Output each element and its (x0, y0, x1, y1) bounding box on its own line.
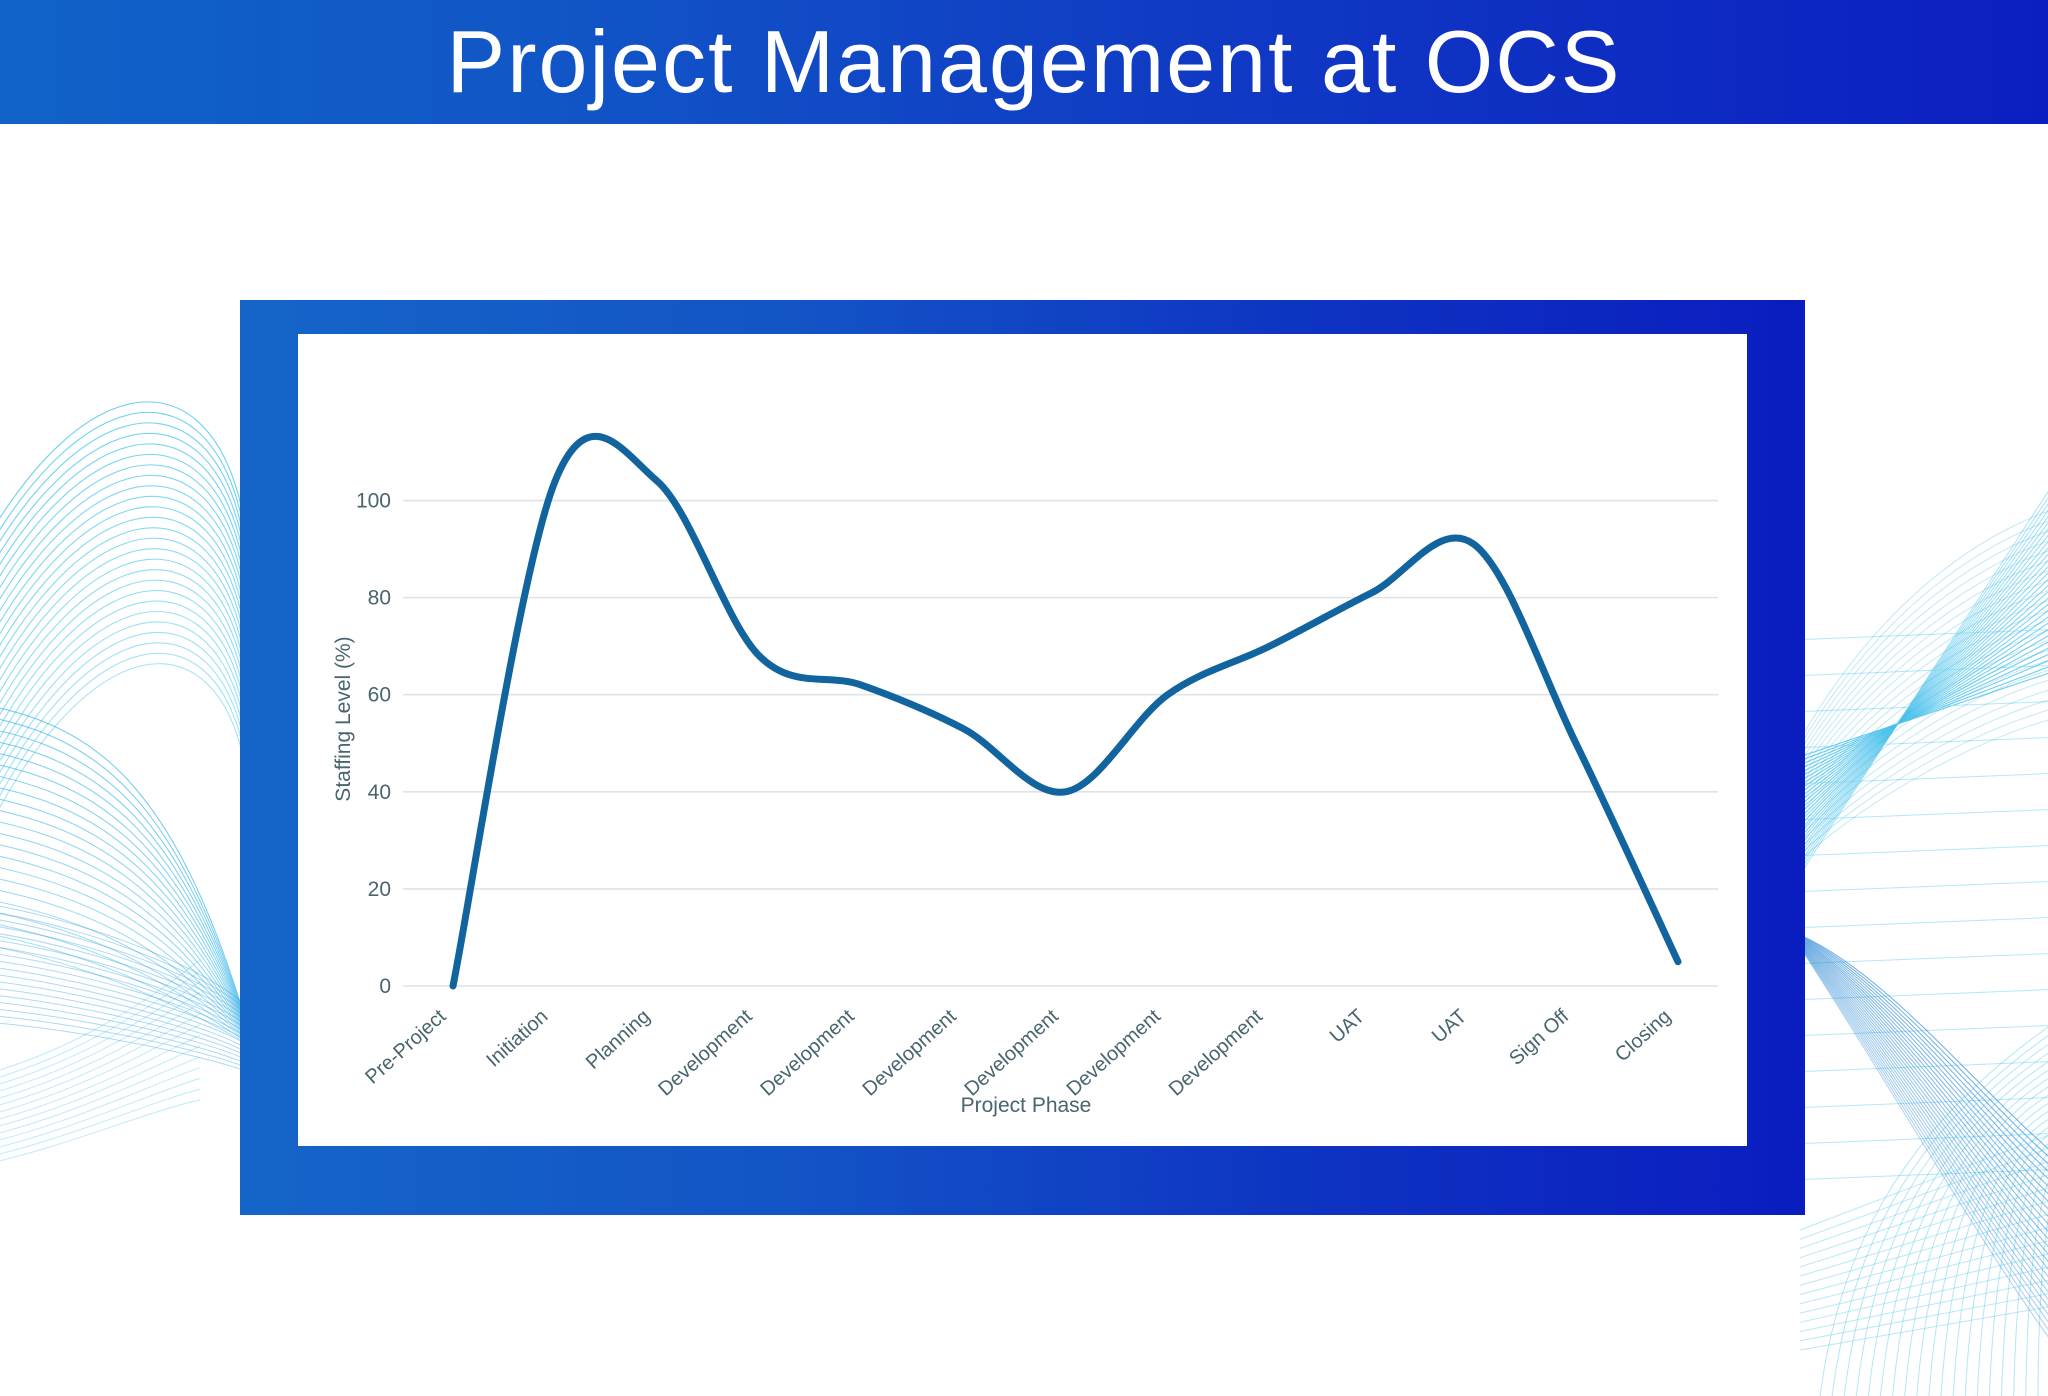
decor-line (0, 423, 250, 639)
decor-line (1800, 1134, 2048, 1239)
decor-line (1790, 462, 2048, 872)
decor-line (0, 412, 250, 629)
decor-line (1790, 493, 2048, 854)
decor-line (1800, 1300, 2048, 1350)
decor-line (1790, 454, 2048, 877)
decor-line (1800, 1272, 2048, 1331)
decor-line (1790, 1096, 2048, 1108)
y-tick-label: 20 (368, 878, 391, 901)
decor-line (1800, 710, 2048, 860)
slide-title-bar: Project Management at OCS (0, 0, 2048, 124)
decor-line (1790, 628, 2048, 778)
decor-line (0, 914, 259, 1045)
decor-line (1800, 680, 2048, 843)
decor-line (1790, 604, 2048, 791)
decor-line (0, 906, 250, 1044)
decor-line (1800, 600, 2048, 797)
decor-line (1800, 936, 2048, 1205)
decor-line (1800, 946, 2048, 1373)
decor-line (1790, 517, 2048, 840)
decor-line (1893, 1057, 2048, 1396)
decor-line (0, 1078, 200, 1156)
x-tick-label: Initiation (482, 1005, 552, 1071)
decor-line (0, 1014, 200, 1115)
decor-line (1905, 1066, 2048, 1396)
decor-line (1790, 620, 2048, 782)
decor-line (1790, 430, 2048, 890)
decor-line (1790, 772, 2048, 784)
decor-line (0, 929, 250, 1045)
decor-line (1800, 630, 2048, 814)
decor-line (1790, 916, 2048, 928)
x-tick-label: Development (1165, 1005, 1268, 1100)
x-tick-label: Closing (1611, 1005, 1675, 1066)
decor-line (1800, 670, 2048, 837)
decor-line (1800, 943, 2048, 1323)
decor-line (0, 517, 250, 722)
decor-line (1800, 1162, 2048, 1258)
decor-line (0, 664, 250, 890)
decor-line (1800, 944, 2048, 1332)
x-tick-label: Development (961, 1005, 1064, 1100)
decor-line (1881, 1047, 2048, 1396)
decor-line (1800, 1189, 2048, 1276)
decor-line (1917, 1076, 2048, 1396)
decor-line (1800, 540, 2048, 763)
decor-line (0, 837, 250, 1041)
decor-line (0, 549, 250, 758)
decor-line (1790, 880, 2048, 892)
decor-line (0, 559, 250, 770)
decor-line (1989, 1132, 2048, 1396)
y-tick-label: 60 (368, 684, 391, 707)
decor-line (1790, 1168, 2048, 1180)
decor-line (0, 1089, 200, 1163)
decor-line (1790, 952, 2048, 964)
decor-line (1800, 1120, 2048, 1230)
decor-line (1790, 478, 2048, 864)
decor-line (1790, 736, 2048, 748)
decor-line (1941, 1095, 2048, 1396)
decor-line (1800, 940, 2048, 1272)
x-tick-label: Development (654, 1005, 757, 1100)
decor-line (1790, 470, 2048, 868)
decor-line (1800, 1286, 2048, 1341)
decor-line (1800, 700, 2048, 854)
decor-line (2026, 1153, 2048, 1396)
decor-line (1790, 1132, 2048, 1144)
decor-line (0, 580, 250, 794)
decor-line (2038, 1159, 2048, 1396)
x-tick-label: Planning (582, 1005, 655, 1073)
decor-line (1856, 1028, 2048, 1396)
decor-line (1790, 844, 2048, 856)
decor-line (1790, 438, 2048, 886)
decor-line (0, 871, 250, 1042)
decor-line (0, 949, 259, 1056)
decor-line (0, 907, 259, 1042)
decor-line (1790, 533, 2048, 832)
decor-line (1832, 1009, 2048, 1396)
decor-line (0, 611, 250, 830)
decor-line (0, 444, 250, 657)
decor-line (1800, 947, 2048, 1382)
decor-line (1790, 628, 2048, 640)
decor-line (0, 591, 250, 806)
decor-line (0, 570, 250, 782)
decor-line (0, 860, 250, 1042)
decor-line (1800, 1258, 2048, 1322)
decor-line (1790, 581, 2048, 805)
decor-line (1800, 1175, 2048, 1267)
decor-line (1800, 939, 2048, 1247)
decor-line (1800, 1148, 2048, 1249)
decor-line (0, 653, 250, 878)
decor-line (0, 1013, 259, 1078)
decor-line (1790, 589, 2048, 801)
decor-line (1800, 943, 2048, 1315)
decor-line (0, 507, 250, 712)
decor-line (1800, 570, 2048, 780)
decor-line (0, 803, 250, 1039)
decor-line (1800, 938, 2048, 1238)
decor-line (0, 538, 250, 746)
decor-line (0, 465, 250, 675)
decor-line (0, 791, 250, 1038)
page-title: Project Management at OCS (0, 11, 2048, 113)
decor-line (0, 1020, 259, 1080)
decor-line (1790, 664, 2048, 676)
decor-line (1800, 520, 2048, 751)
decor-line (0, 1035, 200, 1128)
decor-line (1790, 988, 2048, 1000)
y-tick-label: 40 (368, 781, 391, 804)
decor-line (1800, 936, 2048, 1197)
decor-line (0, 1068, 200, 1150)
decor-line (1790, 1060, 2048, 1072)
staffing-level-series-line (453, 436, 1678, 986)
decor-line (0, 956, 259, 1058)
decor-line (0, 971, 200, 1087)
decor-line (0, 1046, 200, 1135)
decor-line (0, 1006, 259, 1075)
decor-line (1800, 580, 2048, 786)
decor-line (1790, 660, 2048, 760)
decor-line (0, 475, 250, 684)
decor-line (1790, 1024, 2048, 1036)
decor-line (0, 622, 250, 842)
decor-line (1800, 942, 2048, 1306)
decor-line (1790, 808, 2048, 820)
decor-line (0, 883, 250, 1043)
decor-line (0, 971, 259, 1064)
decor-line (0, 700, 250, 1035)
decor-line (1800, 590, 2048, 791)
decor-line (1800, 935, 2048, 1188)
decor-line (1800, 938, 2048, 1231)
chart-frame-border: 020406080100 Pre-ProjectInitiationPlanni… (240, 300, 1805, 1215)
x-axis-title: Project Phase (961, 1094, 1092, 1117)
decor-line (1790, 501, 2048, 849)
decor-line (1953, 1104, 2048, 1396)
decor-line (1800, 937, 2048, 1214)
decor-line (0, 900, 259, 1040)
decor-line (0, 928, 259, 1049)
decor-line (0, 935, 259, 1051)
decor-line (0, 746, 250, 1037)
decor-line (0, 826, 250, 1041)
x-tick-label: Development (858, 1005, 961, 1100)
decor-line (1965, 1114, 2048, 1396)
decor-line (1790, 541, 2048, 827)
x-tick-label: Sign Off (1505, 1005, 1573, 1070)
y-tick-label: 0 (379, 975, 391, 998)
decor-line (1790, 446, 2048, 881)
decor-line (0, 1100, 200, 1170)
x-tick-label: Development (756, 1005, 859, 1100)
decor-line (1929, 1085, 2048, 1396)
decor-line (1790, 525, 2048, 836)
decor-left-waves (0, 402, 250, 890)
decor-line (2014, 1147, 2048, 1396)
decor-line (1844, 1019, 2048, 1396)
decor-line (1790, 557, 2048, 818)
decor-line (1800, 510, 2048, 746)
decor-line (1800, 941, 2048, 1289)
decor-line (1790, 644, 2048, 769)
decor-line (1800, 942, 2048, 1298)
decor-line (0, 723, 250, 1036)
x-tick-label: UAT (1428, 1005, 1471, 1047)
decor-line (1800, 550, 2048, 769)
decor-line (2002, 1140, 2048, 1396)
decor-line (0, 964, 259, 1062)
x-tick-label: UAT (1326, 1005, 1369, 1047)
decor-line (0, 992, 200, 1100)
decor-line (1800, 1217, 2048, 1295)
decor-line (0, 982, 200, 1094)
decor-line (1790, 486, 2048, 859)
decor-line (1790, 636, 2048, 773)
decor-line (1977, 1123, 2048, 1396)
decor-line (1800, 1231, 2048, 1304)
decor-line (1868, 1038, 2048, 1396)
decor-line (1800, 945, 2048, 1356)
decor-line (0, 601, 250, 818)
decor-line (1800, 690, 2048, 849)
decor-line (1800, 947, 2048, 1390)
decor-line (1800, 560, 2048, 774)
staffing-level-line-chart: 020406080100 Pre-ProjectInitiationPlanni… (298, 334, 1747, 1146)
decor-line (1800, 500, 2048, 740)
decor-line (1790, 573, 2048, 810)
y-tick-label: 100 (356, 490, 391, 513)
decor-line (1800, 530, 2048, 757)
y-tick-label: 80 (368, 587, 391, 610)
decor-line (0, 402, 250, 620)
decor-line (0, 643, 250, 866)
decor-line (0, 1057, 200, 1142)
decor-line (0, 757, 250, 1037)
decor-line (1800, 940, 2048, 1264)
decor-line (0, 814, 250, 1039)
decor-line (1800, 660, 2048, 831)
decor-line (0, 985, 259, 1069)
decor-line (0, 960, 200, 1080)
decor-line (1800, 944, 2048, 1339)
decor-line (1790, 612, 2048, 786)
decor-left-lower-waves (0, 700, 250, 1045)
decor-line (0, 999, 259, 1073)
decor-line (0, 1003, 200, 1108)
x-tick-label: Development (1063, 1005, 1166, 1100)
y-axis-title: Staffing Level (%) (332, 636, 355, 801)
decor-line (1790, 549, 2048, 823)
x-axis-tick-labels: Pre-ProjectInitiationPlanningDevelopment… (361, 1005, 1675, 1100)
decor-line (0, 940, 250, 1045)
decor-right-fan (1800, 500, 2048, 1390)
decor-line (1790, 652, 2048, 764)
decor-line (1790, 700, 2048, 712)
decor-line (0, 849, 250, 1042)
decor-line (1800, 610, 2048, 803)
decor-line (0, 711, 250, 1035)
decor-line (1800, 937, 2048, 1222)
decor-line (0, 1025, 200, 1122)
decor-line (1800, 945, 2048, 1348)
decor-line (0, 917, 250, 1044)
decor-line (1800, 650, 2048, 826)
decor-line (0, 894, 250, 1043)
decor-right-mesh (1790, 430, 2048, 1180)
decor-line (0, 734, 250, 1036)
decor-line (0, 978, 259, 1066)
decor-line (1820, 1000, 2048, 1396)
x-tick-label: Pre-Project (361, 1005, 450, 1089)
decor-line (0, 769, 250, 1038)
decor-line (1800, 946, 2048, 1365)
decor-line (0, 528, 250, 734)
chart-gridlines (403, 501, 1718, 986)
y-axis-tick-labels: 020406080100 (356, 490, 391, 998)
decor-line (0, 496, 250, 702)
decor-line (1800, 1203, 2048, 1285)
decor-line (0, 433, 250, 647)
decor-line (0, 486, 250, 694)
decor-line (0, 942, 259, 1054)
decor-line (0, 632, 250, 854)
decor-line (1790, 509, 2048, 845)
decor-line (1790, 597, 2048, 796)
decor-line (0, 780, 250, 1038)
decor-line (1800, 939, 2048, 1255)
decor-line (1800, 620, 2048, 809)
decor-line (0, 454, 250, 666)
decor-line (1800, 935, 2048, 1180)
chart-panel: 020406080100 Pre-ProjectInitiationPlanni… (298, 334, 1747, 1146)
decor-line (1800, 941, 2048, 1281)
decor-line (1800, 640, 2048, 820)
decor-line (1800, 1245, 2048, 1313)
decor-line (1790, 565, 2048, 814)
decor-line (0, 992, 259, 1071)
decor-line (0, 921, 259, 1047)
